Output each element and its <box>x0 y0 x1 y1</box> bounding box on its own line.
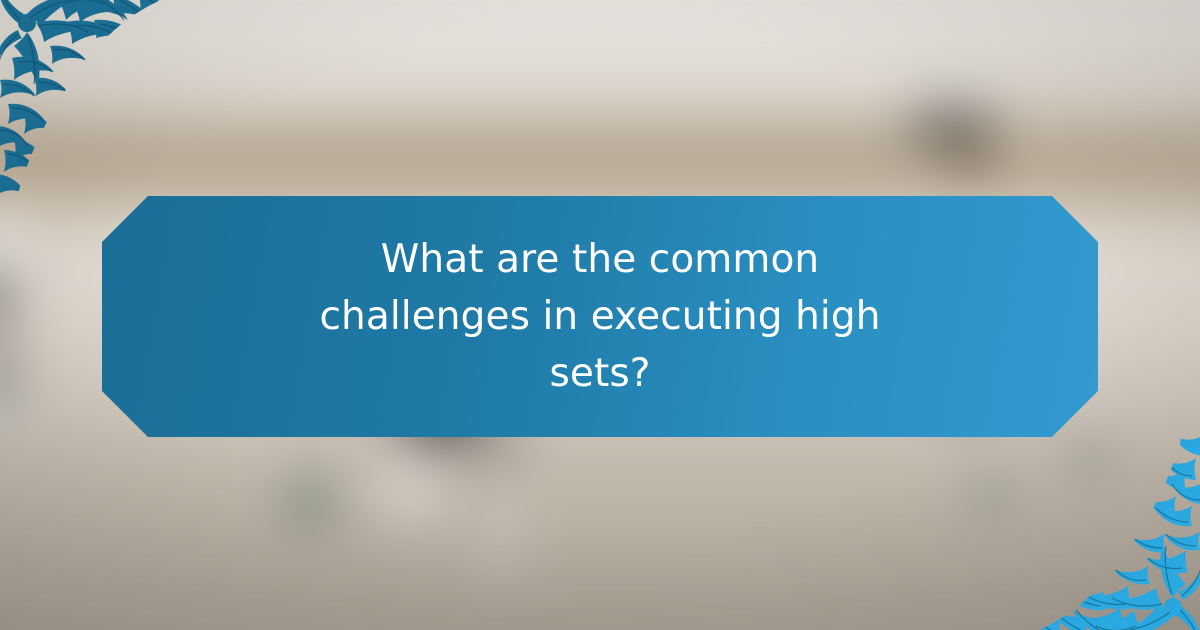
question-card-canvas: What are the common challenges in execut… <box>0 0 1200 630</box>
question-text: What are the common challenges in execut… <box>280 231 920 402</box>
question-banner: What are the common challenges in execut… <box>102 196 1098 437</box>
